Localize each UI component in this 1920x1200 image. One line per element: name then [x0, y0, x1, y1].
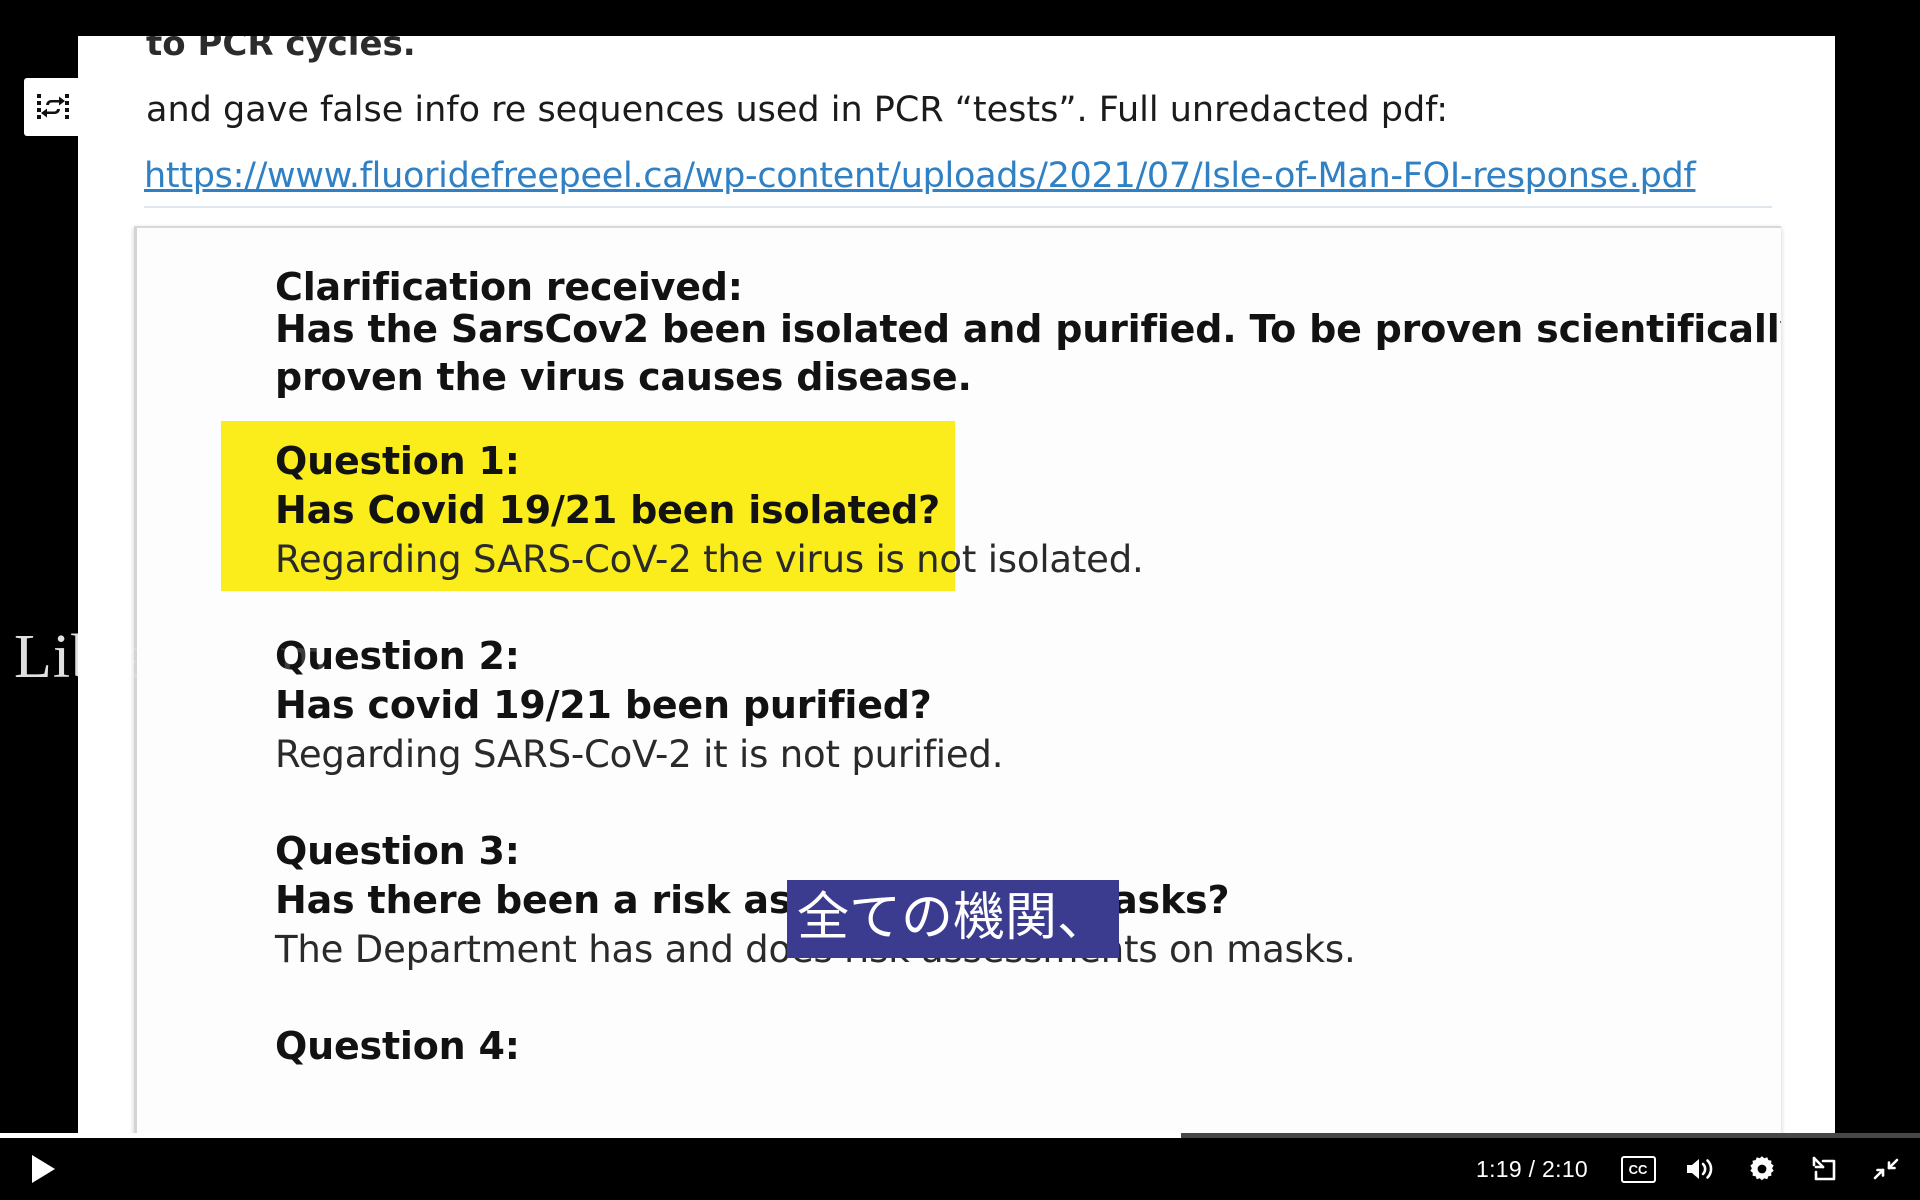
volume-button[interactable] — [1682, 1151, 1718, 1187]
time-display: 1:19 / 2:10 — [1476, 1156, 1588, 1183]
cc-icon: CC — [1621, 1156, 1656, 1183]
right-controls-group: 1:19 / 2:10 CC — [1476, 1138, 1904, 1200]
foi-heading-line-2: Has the SarsCov2 been isolated and purif… — [275, 304, 1781, 354]
video-frame[interactable]: to PCR cycles. and gave false info re se… — [0, 0, 1920, 1200]
document-pdf-link[interactable]: https://www.fluoridefreepeel.ca/wp-conte… — [144, 154, 1695, 198]
question-4-label: Question 4: — [275, 1021, 520, 1071]
document-page: to PCR cycles. and gave false info re se… — [78, 36, 1835, 1133]
swap-media-icon[interactable] — [24, 78, 82, 136]
question-3-label: Question 3: — [275, 826, 520, 876]
exit-fullscreen-button[interactable] — [1868, 1151, 1904, 1187]
question-1-label: Question 1: — [275, 436, 520, 486]
player-controls-bar: 1:19 / 2:10 CC — [0, 1138, 1920, 1200]
document-paragraph: and gave false info re sequences used in… — [146, 88, 1786, 132]
volume-icon — [1683, 1154, 1717, 1184]
video-player-stage: to PCR cycles. and gave false info re se… — [0, 0, 1920, 1200]
captions-button[interactable]: CC — [1620, 1151, 1656, 1187]
exit-fullscreen-icon — [1871, 1154, 1901, 1184]
question-2-label: Question 2: — [275, 631, 520, 681]
question-1-text: Has Covid 19/21 been isolated? — [275, 485, 940, 535]
question-1-answer: Regarding SARS-CoV-2 the virus is not is… — [275, 535, 1144, 585]
subtitle-caption: 全ての機関、 — [787, 880, 1119, 958]
document-cut-line: to PCR cycles. — [146, 36, 416, 64]
gear-icon — [1746, 1153, 1778, 1185]
play-icon — [32, 1155, 55, 1183]
question-2-answer: Regarding SARS-CoV-2 it is not purified. — [275, 730, 1003, 780]
foi-response-screenshot: Clarification received: Has the SarsCov2… — [134, 226, 1781, 1133]
foi-heading-line-3: proven the virus causes disease. — [275, 352, 972, 402]
play-button[interactable] — [10, 1138, 72, 1200]
question-2-text: Has covid 19/21 been purified? — [275, 680, 932, 730]
picture-in-picture-button[interactable] — [1806, 1151, 1842, 1187]
settings-button[interactable] — [1744, 1151, 1780, 1187]
pip-icon — [1809, 1154, 1839, 1184]
link-underline — [144, 206, 1772, 208]
